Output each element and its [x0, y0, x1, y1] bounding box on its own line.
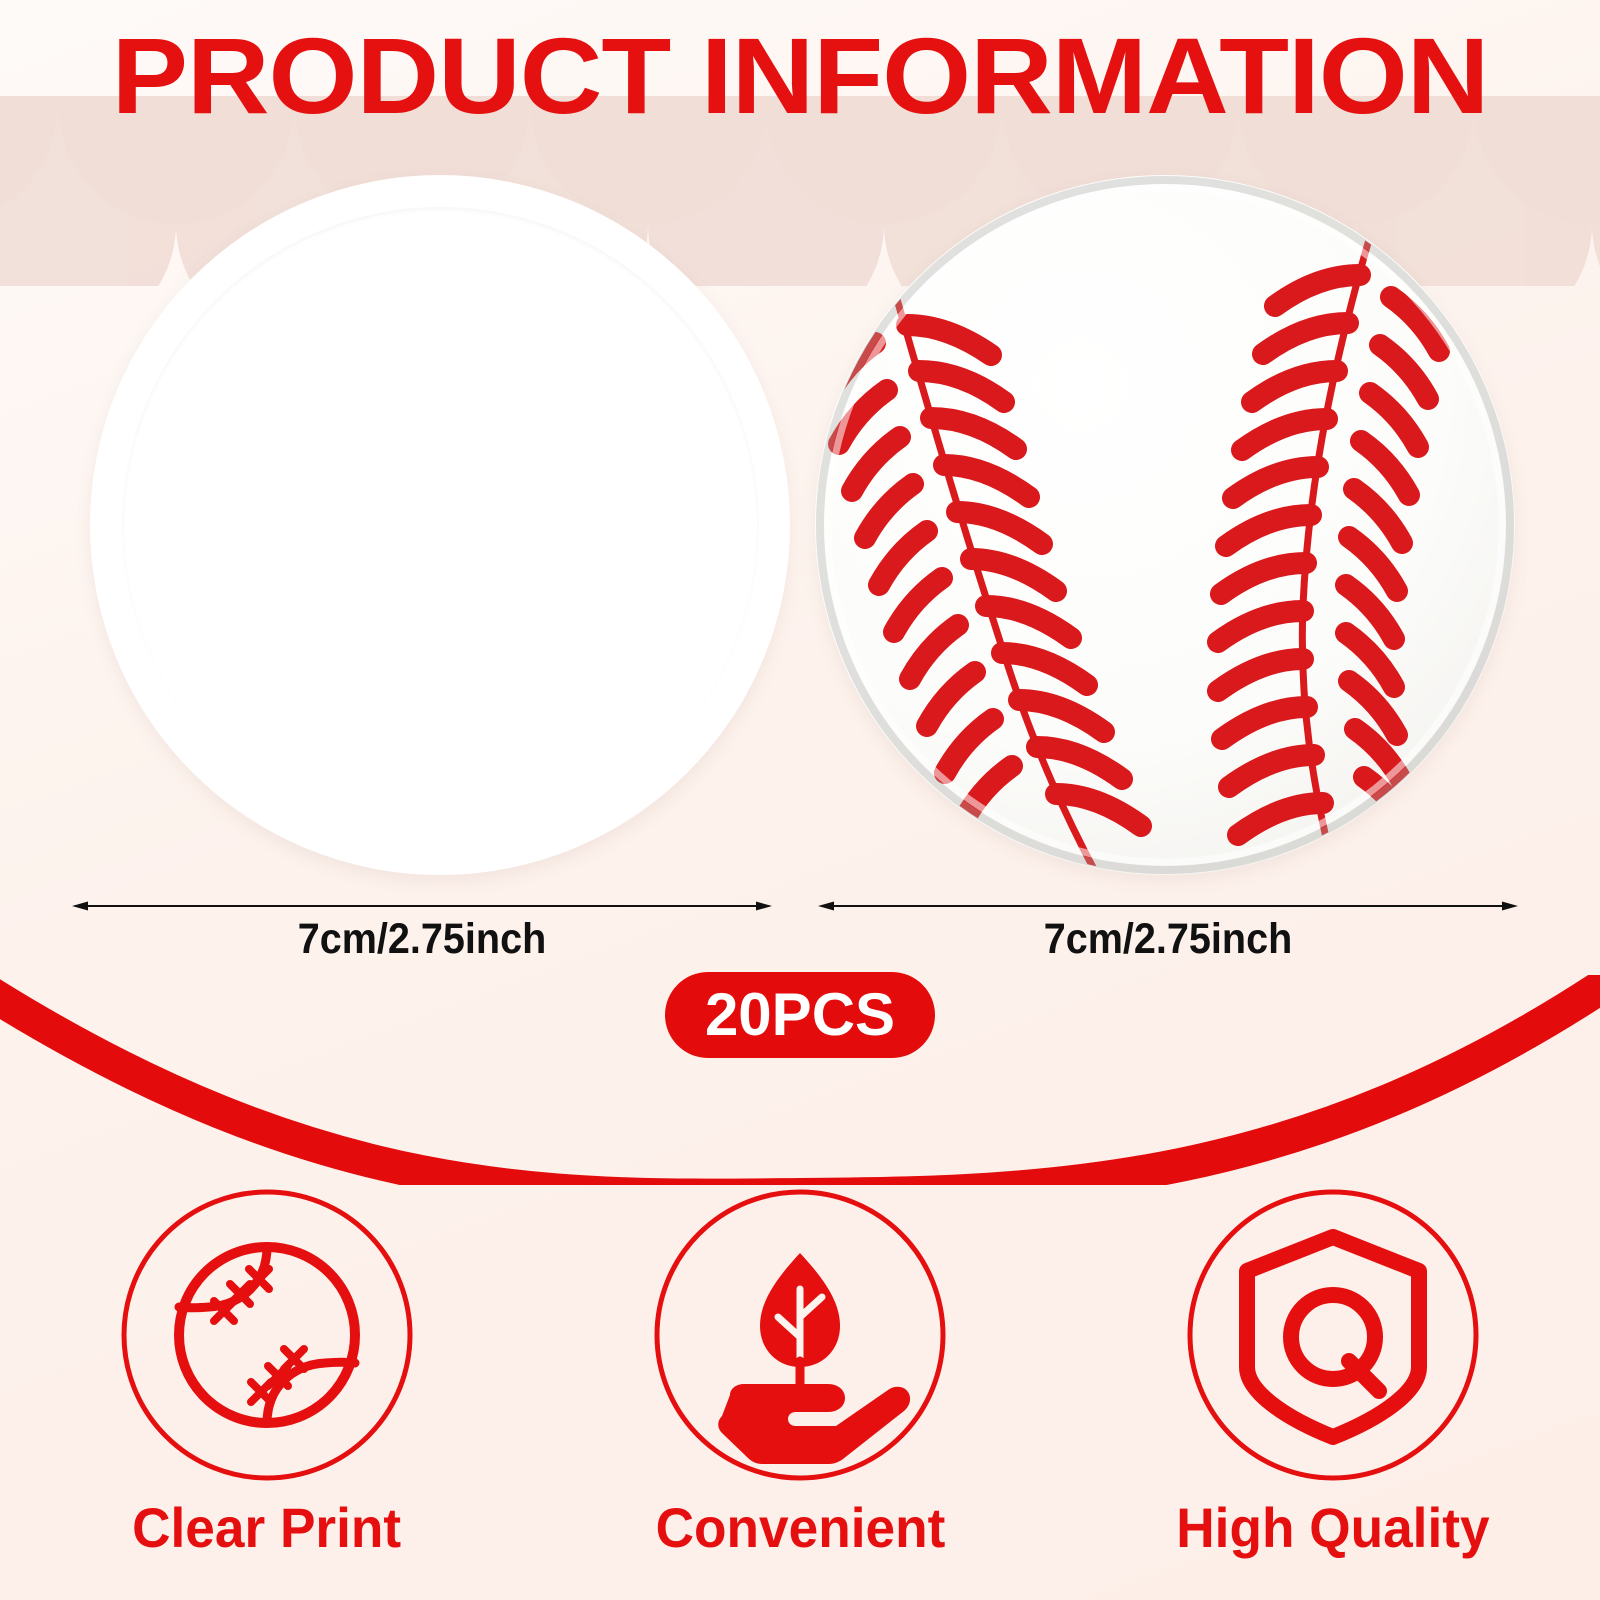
- feature-convenient: Convenient: [533, 1185, 1066, 1585]
- feature-high-quality: High Quality: [1067, 1185, 1600, 1585]
- dimension-label-right: 7cm/2.75inch: [846, 913, 1490, 965]
- feature-label-clear-print: Clear Print: [132, 1495, 401, 1561]
- baseball-icon: [117, 1185, 417, 1485]
- feature-list: Clear Print: [0, 1185, 1600, 1585]
- dimension-baseball-coaster: 7cm/2.75inch: [818, 893, 1518, 973]
- dimension-label-left: 7cm/2.75inch: [100, 913, 744, 965]
- feature-label-high-quality: High Quality: [1177, 1495, 1490, 1561]
- dimension-arrow-right: [818, 899, 1518, 913]
- baseball-round-coaster-image: [815, 175, 1515, 875]
- product-gallery: [0, 160, 1600, 900]
- page-title: PRODUCT INFORMATION: [0, 22, 1600, 130]
- product-information-page: PRODUCT INFORMATION: [0, 0, 1600, 1600]
- dimension-blank-coaster: 7cm/2.75inch: [72, 893, 772, 973]
- hand-leaf-icon: [650, 1185, 950, 1485]
- feature-label-convenient: Convenient: [655, 1495, 945, 1561]
- dimension-arrow-left: [72, 899, 772, 913]
- shield-q-icon: [1183, 1185, 1483, 1485]
- feature-clear-print: Clear Print: [0, 1185, 533, 1585]
- quantity-badge: 20PCS: [665, 972, 935, 1058]
- product-baseball-coaster: [800, 160, 1530, 890]
- product-blank-coaster: [75, 160, 805, 890]
- blank-round-coaster-image: [90, 175, 790, 875]
